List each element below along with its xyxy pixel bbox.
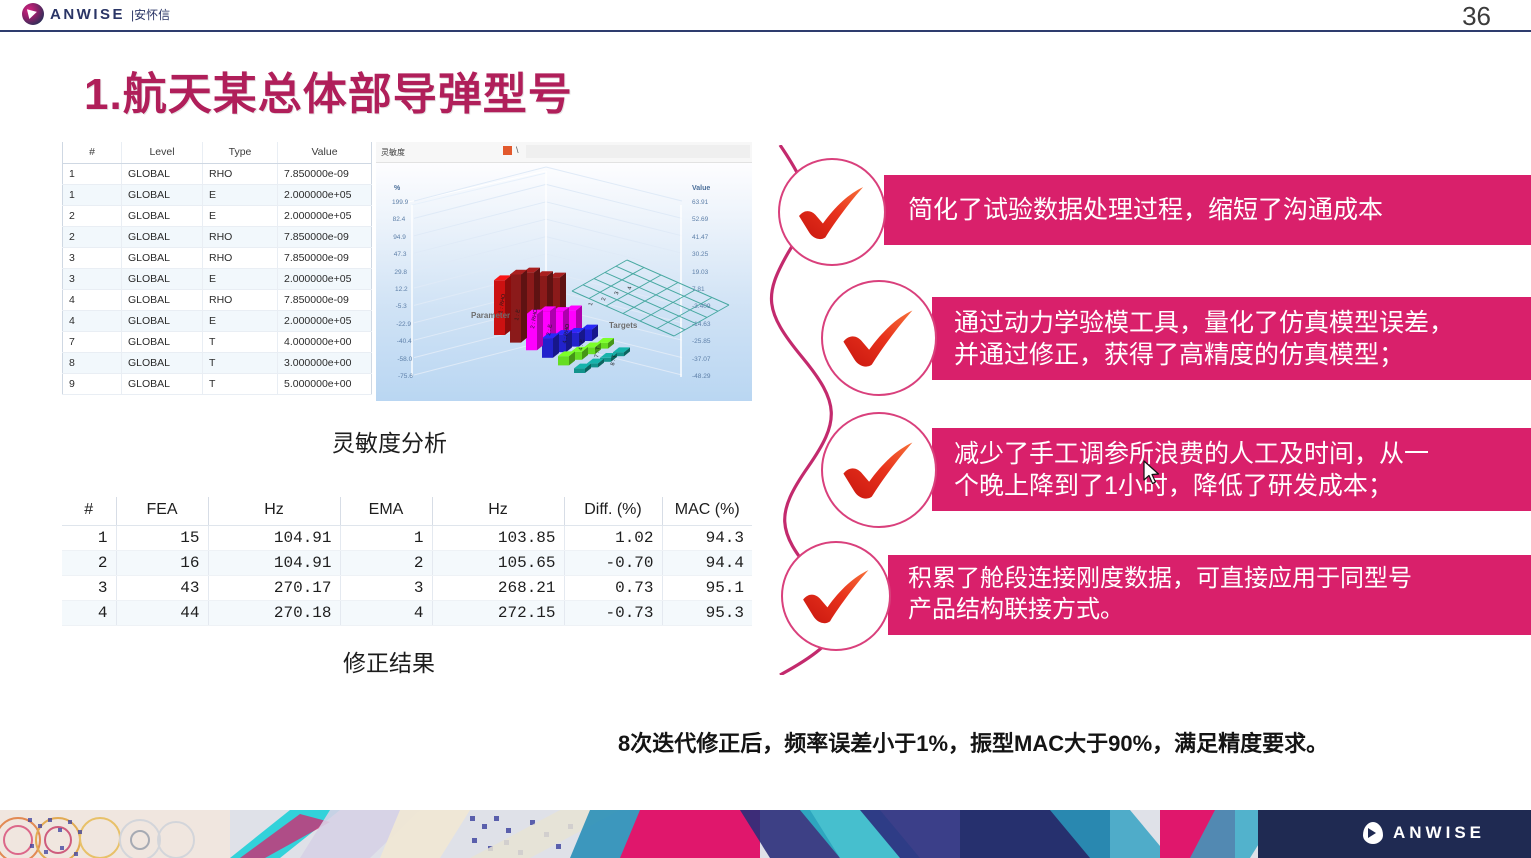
table-cell: 272.15 bbox=[432, 601, 564, 626]
table-cell: E bbox=[203, 269, 278, 290]
left-axis-tick: 47.3 bbox=[394, 251, 407, 258]
table-cell: 94.4 bbox=[662, 551, 752, 576]
footer-bar: ANWISE bbox=[0, 810, 1531, 858]
table-cell: 1.02 bbox=[564, 526, 662, 551]
table-cell: 2 bbox=[63, 227, 122, 248]
chart-right-axis-title: Value bbox=[692, 185, 710, 192]
right-axis-tick: -14.63 bbox=[692, 321, 710, 328]
right-axis-tick: 19.03 bbox=[692, 269, 708, 276]
table-header-row: #FEAHzEMAHzDiff. (%)MAC (%) bbox=[62, 497, 752, 526]
chart-plot-area: % 199.982.494.947.329.812.2-5.3-22.9-40.… bbox=[376, 163, 752, 401]
benefit-3-text: 减少了手工调参所浪费的人工及时间，从一 个晚上降到了1小时，降低了研发成本； bbox=[954, 438, 1429, 502]
chart-title-bar: 灵敏度 \ bbox=[376, 142, 752, 163]
right-axis-tick: -48.29 bbox=[692, 373, 710, 380]
table-row[interactable]: 4GLOBALE2.000000e+05 bbox=[63, 311, 372, 332]
check-mark-icon bbox=[798, 564, 875, 628]
table-header-row: #LevelTypeValue bbox=[63, 142, 372, 164]
table-cell: 4.000000e+00 bbox=[278, 332, 372, 353]
modal-caption: 修正结果 bbox=[343, 644, 435, 678]
column-header-0: # bbox=[63, 142, 122, 164]
table-cell: 270.17 bbox=[208, 576, 340, 601]
table-cell: 44 bbox=[116, 601, 208, 626]
column-header-3: Value bbox=[278, 142, 372, 164]
right-axis-tick: 30.25 bbox=[692, 251, 708, 258]
table-cell: 7.850000e-09 bbox=[278, 248, 372, 269]
page-title: 1.航天某总体部导弹型号 bbox=[84, 58, 573, 122]
left-axis-tick: -75.6 bbox=[398, 373, 413, 380]
table-cell: 3 bbox=[340, 576, 432, 601]
right-axis-tick: -37.07 bbox=[692, 356, 710, 363]
table-cell: 104.91 bbox=[208, 526, 340, 551]
sensitivity-chart-panel: 灵敏度 \ % 199. bbox=[376, 142, 752, 401]
table-row[interactable]: 3GLOBALE2.000000e+05 bbox=[63, 269, 372, 290]
table-cell: RHO bbox=[203, 290, 278, 311]
benefit-2-check-badge bbox=[821, 280, 937, 396]
table-cell: GLOBAL bbox=[122, 311, 203, 332]
check-mark-icon bbox=[838, 436, 919, 503]
table-cell: 104.91 bbox=[208, 551, 340, 576]
column-header-4: Hz bbox=[432, 497, 564, 526]
table-cell: 1 bbox=[340, 526, 432, 551]
table-cell: T bbox=[203, 332, 278, 353]
right-axis-tick: 41.47 bbox=[692, 234, 708, 241]
column-header-6: MAC (%) bbox=[662, 497, 752, 526]
table-cell: 8 bbox=[63, 353, 122, 374]
table-cell: 4 bbox=[63, 290, 122, 311]
left-axis-tick: 82.4 bbox=[393, 216, 406, 223]
brand-logo: ANWISE |安怀信 bbox=[22, 3, 170, 25]
anwise-logo-icon bbox=[22, 3, 44, 25]
benefit-2-text: 通过动力学验模工具，量化了仿真模型误差， 并通过修正，获得了高精度的仿真模型； bbox=[954, 307, 1454, 371]
left-axis-tick: 199.9 bbox=[392, 199, 408, 206]
column-header-5: Diff. (%) bbox=[564, 497, 662, 526]
orange-square-icon bbox=[503, 146, 512, 155]
table-cell: GLOBAL bbox=[122, 227, 203, 248]
column-header-2: Hz bbox=[208, 497, 340, 526]
table-cell: 7 bbox=[63, 332, 122, 353]
table-cell: 3 bbox=[63, 248, 122, 269]
table-cell: 7.850000e-09 bbox=[278, 227, 372, 248]
table-row[interactable]: 1GLOBALE2.000000e+05 bbox=[63, 185, 372, 206]
table-cell: 270.18 bbox=[208, 601, 340, 626]
table-cell: 16 bbox=[116, 551, 208, 576]
sensitivity-parameter-table: #LevelTypeValue 1GLOBALRHO7.850000e-091G… bbox=[62, 142, 372, 395]
table-row[interactable]: 3GLOBALRHO7.850000e-09 bbox=[63, 248, 372, 269]
table-cell: 43 bbox=[116, 576, 208, 601]
table-cell: GLOBAL bbox=[122, 332, 203, 353]
benefit-1-banner[interactable]: 简化了试验数据处理过程，缩短了沟通成本 bbox=[884, 175, 1531, 245]
column-header-3: EMA bbox=[340, 497, 432, 526]
left-axis-tick: 29.8 bbox=[394, 269, 407, 276]
table-cell: 268.21 bbox=[432, 576, 564, 601]
left-axis-tick: -22.9 bbox=[396, 321, 411, 328]
right-axis-tick: -25.85 bbox=[692, 338, 710, 345]
table-row[interactable]: 216104.912105.65-0.7094.4 bbox=[62, 551, 752, 576]
table-row[interactable]: 9GLOBALT5.000000e+00 bbox=[63, 374, 372, 395]
table-cell: 105.65 bbox=[432, 551, 564, 576]
left-axis-tick: 12.2 bbox=[395, 286, 408, 293]
chart-xaxis-title: Parameter bbox=[471, 311, 510, 320]
table-cell: E bbox=[203, 185, 278, 206]
table-cell: 4 bbox=[62, 601, 116, 626]
table-cell: GLOBAL bbox=[122, 353, 203, 374]
left-axis-tick: -40.4 bbox=[397, 338, 412, 345]
chart-window-label: 灵敏度 bbox=[381, 147, 405, 158]
table-row[interactable]: 115104.911103.851.0294.3 bbox=[62, 526, 752, 551]
table-cell: 4 bbox=[63, 311, 122, 332]
footer-pattern bbox=[0, 810, 1531, 858]
benefit-1-check-badge bbox=[778, 158, 886, 266]
table-cell: 5.000000e+00 bbox=[278, 374, 372, 395]
table-cell: GLOBAL bbox=[122, 290, 203, 311]
column-header-2: Type bbox=[203, 142, 278, 164]
column-header-0: # bbox=[62, 497, 116, 526]
table-row[interactable]: 8GLOBALT3.000000e+00 bbox=[63, 353, 372, 374]
left-axis-tick: -5.3 bbox=[396, 303, 407, 310]
benefit-3-check-badge bbox=[821, 412, 937, 528]
table-cell: GLOBAL bbox=[122, 206, 203, 227]
page-number: 36 bbox=[1462, 1, 1491, 32]
table-cell: GLOBAL bbox=[122, 164, 203, 185]
table-cell: 2.000000e+05 bbox=[278, 311, 372, 332]
table-cell: E bbox=[203, 206, 278, 227]
table-row[interactable]: 7GLOBALT4.000000e+00 bbox=[63, 332, 372, 353]
table-cell: E bbox=[203, 311, 278, 332]
table-cell: GLOBAL bbox=[122, 185, 203, 206]
table-cell: 0.73 bbox=[564, 576, 662, 601]
benefit-2-banner[interactable]: 通过动力学验模工具，量化了仿真模型误差， 并通过修正，获得了高精度的仿真模型； bbox=[932, 297, 1531, 380]
table-cell: GLOBAL bbox=[122, 269, 203, 290]
benefit-4-banner[interactable]: 积累了舱段连接刚度数据，可直接应用于同型号 产品结构联接方式。 bbox=[888, 555, 1531, 635]
table-cell: 2.000000e+05 bbox=[278, 269, 372, 290]
table-cell: GLOBAL bbox=[122, 374, 203, 395]
table-row[interactable]: 1GLOBALRHO7.850000e-09 bbox=[63, 164, 372, 185]
summary-note: 8次迭代修正后，频率误差小于1%，振型MAC大于90%，满足精度要求。 bbox=[618, 726, 1328, 758]
right-axis-tick: 63.91 bbox=[692, 199, 708, 206]
table-cell: T bbox=[203, 353, 278, 374]
benefit-1-text: 简化了试验数据处理过程，缩短了沟通成本 bbox=[908, 194, 1383, 226]
table-cell: T bbox=[203, 374, 278, 395]
table-cell: 3 bbox=[63, 269, 122, 290]
check-mark-icon bbox=[794, 181, 869, 243]
mouse-pointer-icon bbox=[1143, 460, 1161, 486]
footer-brand-name: ANWISE bbox=[1393, 823, 1485, 843]
check-mark-icon bbox=[838, 304, 919, 371]
table-row[interactable]: 444270.184272.15-0.7395.3 bbox=[62, 601, 752, 626]
table-cell: 95.3 bbox=[662, 601, 752, 626]
right-axis-tick: -3.409 bbox=[692, 303, 710, 310]
table-cell: GLOBAL bbox=[122, 248, 203, 269]
brand-name: ANWISE bbox=[50, 6, 125, 23]
table-cell: 2.000000e+05 bbox=[278, 185, 372, 206]
footer-brand-logo: ANWISE bbox=[1363, 822, 1485, 844]
table-cell: -0.73 bbox=[564, 601, 662, 626]
left-axis-tick: -58.0 bbox=[397, 356, 412, 363]
table-cell: 1 bbox=[63, 164, 122, 185]
table-cell: 15 bbox=[116, 526, 208, 551]
table-cell: 9 bbox=[63, 374, 122, 395]
benefit-3-banner[interactable]: 减少了手工调参所浪费的人工及时间，从一 个晚上降到了1小时，降低了研发成本； bbox=[932, 428, 1531, 511]
right-axis-tick: 52.69 bbox=[692, 216, 708, 223]
column-header-1: FEA bbox=[116, 497, 208, 526]
table-cell: 7.850000e-09 bbox=[278, 290, 372, 311]
table-cell: RHO bbox=[203, 164, 278, 185]
table-cell: 103.85 bbox=[432, 526, 564, 551]
table-cell: 2 bbox=[63, 206, 122, 227]
table-cell: 2 bbox=[340, 551, 432, 576]
table-cell: 2 bbox=[62, 551, 116, 576]
table-cell: 1 bbox=[63, 185, 122, 206]
table-cell: 94.3 bbox=[662, 526, 752, 551]
chart-left-axis-title: % bbox=[394, 185, 400, 192]
chart-caption: 灵敏度分析 bbox=[332, 424, 447, 458]
chart-target-label: 2 bbox=[601, 297, 608, 301]
brand-name-cn: |安怀信 bbox=[131, 6, 170, 23]
left-axis-tick: 94.9 bbox=[393, 234, 406, 241]
anwise-footer-logo-icon bbox=[1363, 822, 1383, 844]
right-axis-tick: 7.81 bbox=[692, 286, 705, 293]
top-bar: ANWISE |安怀信 36 bbox=[0, 0, 1531, 32]
table-row[interactable]: 2GLOBALE2.000000e+05 bbox=[63, 206, 372, 227]
chart-path-field[interactable] bbox=[526, 145, 750, 158]
benefit-4-check-badge bbox=[781, 541, 891, 651]
table-cell: 95.1 bbox=[662, 576, 752, 601]
table-row[interactable]: 4GLOBALRHO7.850000e-09 bbox=[63, 290, 372, 311]
table-cell: 4 bbox=[340, 601, 432, 626]
table-row[interactable]: 2GLOBALRHO7.850000e-09 bbox=[63, 227, 372, 248]
chart-yaxis-title: Targets bbox=[609, 321, 637, 330]
table-cell: RHO bbox=[203, 227, 278, 248]
table-cell: -0.70 bbox=[564, 551, 662, 576]
benefit-4-text: 积累了舱段连接刚度数据，可直接应用于同型号 产品结构联接方式。 bbox=[908, 564, 1412, 625]
table-cell: RHO bbox=[203, 248, 278, 269]
table-cell: 1 bbox=[62, 526, 116, 551]
chart-target-label: 4 bbox=[627, 286, 634, 290]
chart-tab[interactable]: \ bbox=[503, 145, 519, 155]
table-cell: 3 bbox=[62, 576, 116, 601]
chart-tab-slash: \ bbox=[516, 145, 519, 155]
table-cell: 2.000000e+05 bbox=[278, 206, 372, 227]
modal-correlation-table: #FEAHzEMAHzDiff. (%)MAC (%) 115104.91110… bbox=[62, 497, 752, 626]
table-cell: 3.000000e+00 bbox=[278, 353, 372, 374]
table-row[interactable]: 343270.173268.210.7395.1 bbox=[62, 576, 752, 601]
table-cell: 7.850000e-09 bbox=[278, 164, 372, 185]
column-header-1: Level bbox=[122, 142, 203, 164]
